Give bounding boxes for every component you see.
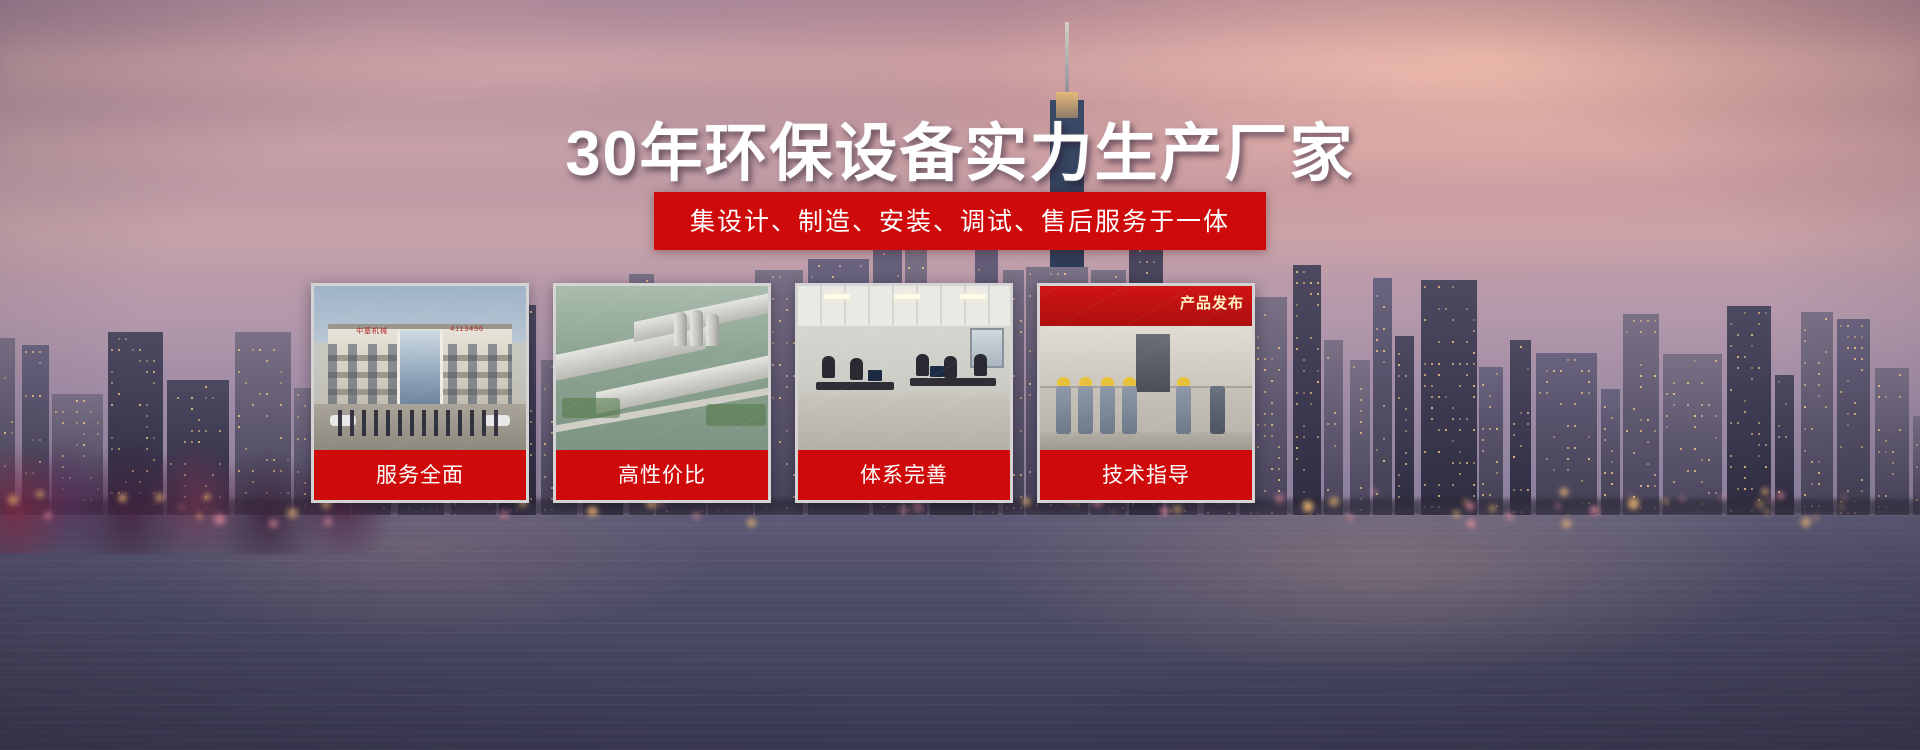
building-window-light — [1376, 328, 1378, 330]
tower-spire — [1065, 22, 1069, 102]
skyline-building — [1350, 360, 1370, 520]
building-window-light — [1611, 483, 1613, 485]
building-window-light — [1278, 479, 1280, 481]
feature-card[interactable]: 体系完善 — [795, 283, 1013, 503]
waterfront-light — [1762, 488, 1768, 494]
building-window-light — [1271, 468, 1273, 470]
building-window-light — [1424, 484, 1426, 486]
building-window-light — [1466, 308, 1468, 310]
building-window-light — [1567, 469, 1569, 471]
building-window-light — [1473, 484, 1475, 486]
building-window-light — [1611, 417, 1613, 419]
building-window-light — [1861, 336, 1863, 338]
building-window-light — [1916, 466, 1918, 468]
skyline-building — [1875, 368, 1909, 520]
building-window-light — [1317, 370, 1319, 372]
skyline-building — [1479, 367, 1503, 520]
hero-banner: 30年环保设备实力生产厂家 集设计、制造、安装、调试、售后服务于一体 中基机械 … — [0, 0, 1920, 750]
building-window-light — [1744, 411, 1746, 413]
building-window-light — [1804, 362, 1806, 364]
building-window-light — [1452, 363, 1454, 365]
building-window-light — [1847, 490, 1849, 492]
waterfront-light — [1756, 500, 1764, 508]
building-window-light — [1673, 393, 1675, 395]
building-window-light — [1445, 308, 1447, 310]
building-window-light — [1560, 403, 1562, 405]
waterfront-light — [1764, 509, 1770, 515]
building-window-light — [1327, 423, 1329, 425]
computer-monitor — [868, 370, 882, 381]
safety-helmet-icon — [1123, 377, 1136, 386]
building-window-light — [32, 351, 34, 353]
office-desk — [910, 378, 996, 386]
building-window-light — [1765, 312, 1767, 314]
building-window-light — [1574, 403, 1576, 405]
building-window-light — [1687, 404, 1689, 406]
building-window-light — [1264, 314, 1266, 316]
building-window-light — [1611, 472, 1613, 474]
building-window-light — [1640, 320, 1642, 322]
waterfront-light — [1839, 504, 1844, 509]
building-window-light — [1452, 440, 1454, 442]
building-window-light — [1574, 447, 1576, 449]
building-window-light — [1680, 448, 1682, 450]
building-window-light — [1482, 494, 1484, 496]
building-window-light — [1334, 423, 1336, 425]
building-window-light — [1730, 389, 1732, 391]
building-window-light — [1804, 428, 1806, 430]
building-window-light — [1588, 370, 1590, 372]
building-window-light — [146, 371, 148, 373]
building-window-light — [1317, 348, 1319, 350]
building-window-light — [1899, 374, 1901, 376]
building-window-light — [1317, 381, 1319, 383]
waterfront-light — [1467, 519, 1476, 528]
building-window-light — [1527, 412, 1529, 414]
feature-card[interactable]: 高性价比 — [553, 283, 771, 503]
building-window-light — [1139, 250, 1141, 252]
building-window-light — [1398, 496, 1400, 498]
building-window-light — [922, 267, 924, 269]
building-window-light — [1278, 490, 1280, 492]
ceiling-lamp — [894, 294, 920, 299]
waterfront-light — [179, 505, 183, 509]
building-window-light — [1459, 462, 1461, 464]
building-window-light — [1445, 396, 1447, 398]
building-window-light — [1327, 489, 1329, 491]
building-window-light — [1496, 461, 1498, 463]
building-window-light — [1804, 384, 1806, 386]
waterfront-light — [44, 511, 52, 519]
building-window-light — [1654, 331, 1656, 333]
building-window-light — [1278, 468, 1280, 470]
building-window-light — [1424, 385, 1426, 387]
building-window-light — [1694, 448, 1696, 450]
building-window-light — [1730, 345, 1732, 347]
building-window-light — [1885, 451, 1887, 453]
building-window-light — [1840, 325, 1842, 327]
waterfront-light — [1680, 496, 1685, 501]
building-window-light — [1482, 483, 1484, 485]
building-window-light — [39, 362, 41, 364]
waterfront-light — [1628, 498, 1639, 509]
building-window-light — [1431, 385, 1433, 387]
building-window-light — [1633, 408, 1635, 410]
building-window-light — [25, 351, 27, 353]
building-window-light — [1804, 494, 1806, 496]
building-window-light — [1640, 430, 1642, 432]
building-window-light — [1744, 488, 1746, 490]
building-window-light — [1383, 438, 1385, 440]
waterfront-light — [1275, 494, 1284, 503]
building-window-light — [1317, 282, 1319, 284]
building-window-light — [1271, 358, 1273, 360]
building-window-light — [1818, 483, 1820, 485]
building-window-light — [1854, 347, 1856, 349]
building-window-light — [1257, 358, 1259, 360]
building-window-light — [1383, 361, 1385, 363]
building-window-light — [280, 371, 282, 373]
building-window-light — [1278, 446, 1280, 448]
waterfront-light — [1555, 502, 1561, 508]
building-window-light — [1424, 451, 1426, 453]
building-window-light — [1878, 385, 1880, 387]
building-window-light — [1581, 392, 1583, 394]
building-window-light — [1303, 469, 1305, 471]
building-window-light — [1588, 436, 1590, 438]
building-window-light — [1878, 451, 1880, 453]
building-window-light — [1715, 360, 1717, 362]
building-window-light — [1520, 445, 1522, 447]
building-window-light — [1303, 425, 1305, 427]
building-window-light — [1360, 410, 1362, 412]
skyline-building — [1510, 340, 1531, 520]
building-window-light — [1654, 320, 1656, 322]
building-window-light — [1264, 369, 1266, 371]
safety-helmet-icon — [1101, 377, 1114, 386]
building-window-light — [1737, 356, 1739, 358]
factory-supervisor — [1210, 386, 1225, 434]
waterfront-light — [500, 510, 509, 519]
building-window-light — [1431, 396, 1433, 398]
greenery-patch — [562, 398, 620, 418]
building-window-light — [1496, 428, 1498, 430]
building-window-light — [1744, 400, 1746, 402]
building-window-light — [1424, 286, 1426, 288]
building-window-light — [1146, 261, 1148, 263]
signage-phone-number: 4113456 — [450, 326, 484, 336]
building-window-light — [1527, 368, 1529, 370]
subtitle-bar: 集设计、制造、安装、调试、售后服务于一体 — [0, 192, 1920, 250]
building-window-light — [1473, 319, 1475, 321]
building-window-light — [1861, 479, 1863, 481]
waterfront-light — [1719, 495, 1725, 501]
waterfront-light — [214, 514, 225, 525]
building-window-light — [1310, 293, 1312, 295]
building-window-light — [1854, 358, 1856, 360]
building-window-light — [1847, 424, 1849, 426]
building-window-light — [1804, 450, 1806, 452]
building-window-light — [1376, 493, 1378, 495]
office-interior-staff-photo — [798, 286, 1010, 450]
building-window-light — [1482, 450, 1484, 452]
building-window-light — [1654, 485, 1656, 487]
building-window-light — [1431, 363, 1433, 365]
building-window-light — [1567, 425, 1569, 427]
building-window-light — [1264, 358, 1266, 360]
building-window-light — [818, 265, 820, 267]
building-window-light — [860, 265, 862, 267]
building-window-light — [1885, 495, 1887, 497]
building-window-light — [1847, 336, 1849, 338]
building-window-light — [1708, 404, 1710, 406]
feature-card-caption: 技术指导 — [1040, 450, 1252, 500]
building-window-light — [1278, 457, 1280, 459]
building-window-light — [1520, 346, 1522, 348]
building-window-light — [1847, 380, 1849, 382]
building-window-light — [1553, 370, 1555, 372]
building-window-light — [1278, 369, 1280, 371]
building-window-light — [1574, 359, 1576, 361]
building-window-light — [125, 338, 127, 340]
building-window-light — [1765, 466, 1767, 468]
factory-floor — [1040, 432, 1252, 450]
building-window-light — [1334, 412, 1336, 414]
factory-door — [1136, 334, 1170, 392]
building-window-light — [1701, 481, 1703, 483]
office-floor — [798, 396, 1010, 450]
skyline-building — [1663, 354, 1722, 520]
building-window-light — [1654, 430, 1656, 432]
building-window-light — [1840, 391, 1842, 393]
ceiling-lamp — [824, 294, 850, 299]
building-window-light — [1861, 325, 1863, 327]
building-window-light — [1452, 341, 1454, 343]
building-window-light — [832, 276, 834, 278]
building-window-light — [779, 276, 781, 278]
building-window-light — [1489, 406, 1491, 408]
building-window-light — [146, 360, 148, 362]
building-window-light — [1513, 434, 1515, 436]
building-window-light — [1751, 345, 1753, 347]
building-window-light — [1271, 413, 1273, 415]
building-window-light — [1854, 413, 1856, 415]
building-window-light — [1640, 386, 1642, 388]
building-window-light — [1496, 373, 1498, 375]
building-window-light — [1050, 273, 1052, 275]
building-window-light — [1383, 328, 1385, 330]
building-window-light — [1310, 282, 1312, 284]
building-window-light — [1398, 397, 1400, 399]
building-window-light — [238, 349, 240, 351]
waterfront-light — [1173, 505, 1182, 514]
building-window-light — [153, 360, 155, 362]
waterfront-light — [1463, 499, 1468, 504]
building-window-light — [1153, 261, 1155, 263]
building-window-light — [1527, 489, 1529, 491]
building-window-light — [1581, 370, 1583, 372]
building-window-light — [1840, 446, 1842, 448]
office-worker — [974, 354, 987, 376]
building-window-light — [1818, 395, 1820, 397]
building-window-light — [1546, 392, 1548, 394]
building-window-light — [1546, 381, 1548, 383]
building-window-light — [1701, 404, 1703, 406]
building-window-light — [1296, 271, 1298, 273]
feature-card-list: 中基机械 4113456 服务全面 — [311, 283, 1255, 503]
building-window-light — [1360, 432, 1362, 434]
building-window-light — [1751, 334, 1753, 336]
building-window-light — [1694, 470, 1696, 472]
building-window-light — [1303, 359, 1305, 361]
building-window-light — [1513, 489, 1515, 491]
building-window-light — [1553, 469, 1555, 471]
waterfront-light — [1777, 492, 1784, 499]
building-window-light — [1520, 412, 1522, 414]
building-window-light — [1438, 396, 1440, 398]
building-window-light — [1473, 429, 1475, 431]
building-window-light — [1057, 273, 1059, 275]
building-window-light — [1737, 488, 1739, 490]
building-window-light — [1730, 466, 1732, 468]
building-window-light — [1666, 393, 1668, 395]
building-window-light — [1825, 406, 1827, 408]
building-window-light — [1673, 404, 1675, 406]
building-window-light — [772, 276, 774, 278]
cloud-band — [0, 30, 1920, 100]
building-window-light — [1715, 437, 1717, 439]
building-window-light — [132, 349, 134, 351]
building-window-light — [1310, 403, 1312, 405]
building-window-light — [1489, 494, 1491, 496]
building-window-light — [1847, 413, 1849, 415]
building-window-light — [4, 377, 6, 379]
building-window-light — [1604, 494, 1606, 496]
building-window-light — [897, 275, 899, 277]
building-window-light — [1303, 491, 1305, 493]
office-worker — [916, 354, 929, 376]
building-window-light — [1708, 492, 1710, 494]
waterfront-light — [119, 494, 127, 502]
building-window-light — [1303, 436, 1305, 438]
building-window-light — [1818, 461, 1820, 463]
building-window-light — [1398, 375, 1400, 377]
building-window-light — [1360, 421, 1362, 423]
building-window-light — [1885, 396, 1887, 398]
building-window-light — [1317, 304, 1319, 306]
building-window-light — [1398, 474, 1400, 476]
building-window-light — [1296, 436, 1298, 438]
waterfront-light — [587, 506, 598, 517]
building-window-light — [252, 349, 254, 351]
building-window-light — [1861, 347, 1863, 349]
office-ceiling — [798, 286, 1010, 326]
building-window-light — [1666, 426, 1668, 428]
building-window-light — [646, 280, 648, 282]
building-window-light — [1758, 367, 1760, 369]
building-window-light — [1804, 406, 1806, 408]
building-window-light — [1567, 359, 1569, 361]
skyline-building — [1421, 280, 1477, 520]
safety-helmet-icon — [1057, 377, 1070, 386]
building-window-light — [259, 349, 261, 351]
building-window-light — [1604, 428, 1606, 430]
building-window-light — [1626, 430, 1628, 432]
building-window-light — [1892, 451, 1894, 453]
building-window-light — [1459, 385, 1461, 387]
building-window-light — [1473, 352, 1475, 354]
building-window-light — [1139, 261, 1141, 263]
building-window-light — [1647, 441, 1649, 443]
building-window-light — [1303, 271, 1305, 273]
building-window-light — [1452, 462, 1454, 464]
building-window-light — [118, 349, 120, 351]
building-window-light — [1861, 446, 1863, 448]
building-window-light — [1452, 319, 1454, 321]
waterfront-light — [36, 490, 44, 498]
building-window-light — [1360, 388, 1362, 390]
waterfront-light — [204, 494, 210, 500]
building-window-light — [1376, 350, 1378, 352]
building-window-light — [1567, 447, 1569, 449]
building-window-light — [1818, 362, 1820, 364]
building-window-light — [1264, 424, 1266, 426]
building-window-light — [1751, 367, 1753, 369]
building-window-light — [1730, 323, 1732, 325]
building-window-light — [1737, 367, 1739, 369]
waterfront-light — [1453, 511, 1460, 518]
building-window-light — [1861, 369, 1863, 371]
feature-card[interactable]: 中基机械 4113456 服务全面 — [311, 283, 529, 503]
building-window-light — [1626, 331, 1628, 333]
building-window-light — [1640, 419, 1642, 421]
building-window-light — [1588, 392, 1590, 394]
building-window-light — [1633, 452, 1635, 454]
building-window-light — [1271, 424, 1273, 426]
waterfront-light — [197, 514, 202, 519]
building-window-light — [1687, 470, 1689, 472]
waterfront-light — [1489, 505, 1496, 512]
skyline-building — [1837, 319, 1870, 520]
building-window-light — [1473, 330, 1475, 332]
safety-helmet-icon — [1079, 377, 1092, 386]
building-window-light — [1854, 402, 1856, 404]
staff-lineup — [338, 410, 502, 436]
building-window-light — [1029, 273, 1031, 275]
building-window-light — [839, 265, 841, 267]
building-window-light — [1785, 403, 1787, 405]
building-window-light — [1546, 458, 1548, 460]
company-office-building-photo: 中基机械 4113456 — [314, 286, 526, 450]
building-window-light — [1758, 444, 1760, 446]
building-window-light — [1466, 363, 1468, 365]
building-window-light — [1673, 481, 1675, 483]
building-window-light — [1303, 282, 1305, 284]
page-title: 30年环保设备实力生产厂家 — [0, 103, 1920, 194]
building-window-light — [1758, 323, 1760, 325]
building-window-light — [1811, 428, 1813, 430]
building-window-light — [1353, 366, 1355, 368]
building-window-light — [1567, 458, 1569, 460]
building-window-light — [266, 360, 268, 362]
building-window-light — [1310, 392, 1312, 394]
building-window-light — [1459, 429, 1461, 431]
building-window-light — [1271, 435, 1273, 437]
waterfront-light — [1814, 516, 1819, 521]
feature-card[interactable]: 产品发布 技术指导 — [1037, 283, 1255, 503]
building-window-light — [1310, 337, 1312, 339]
waterfront-light — [1560, 488, 1568, 496]
